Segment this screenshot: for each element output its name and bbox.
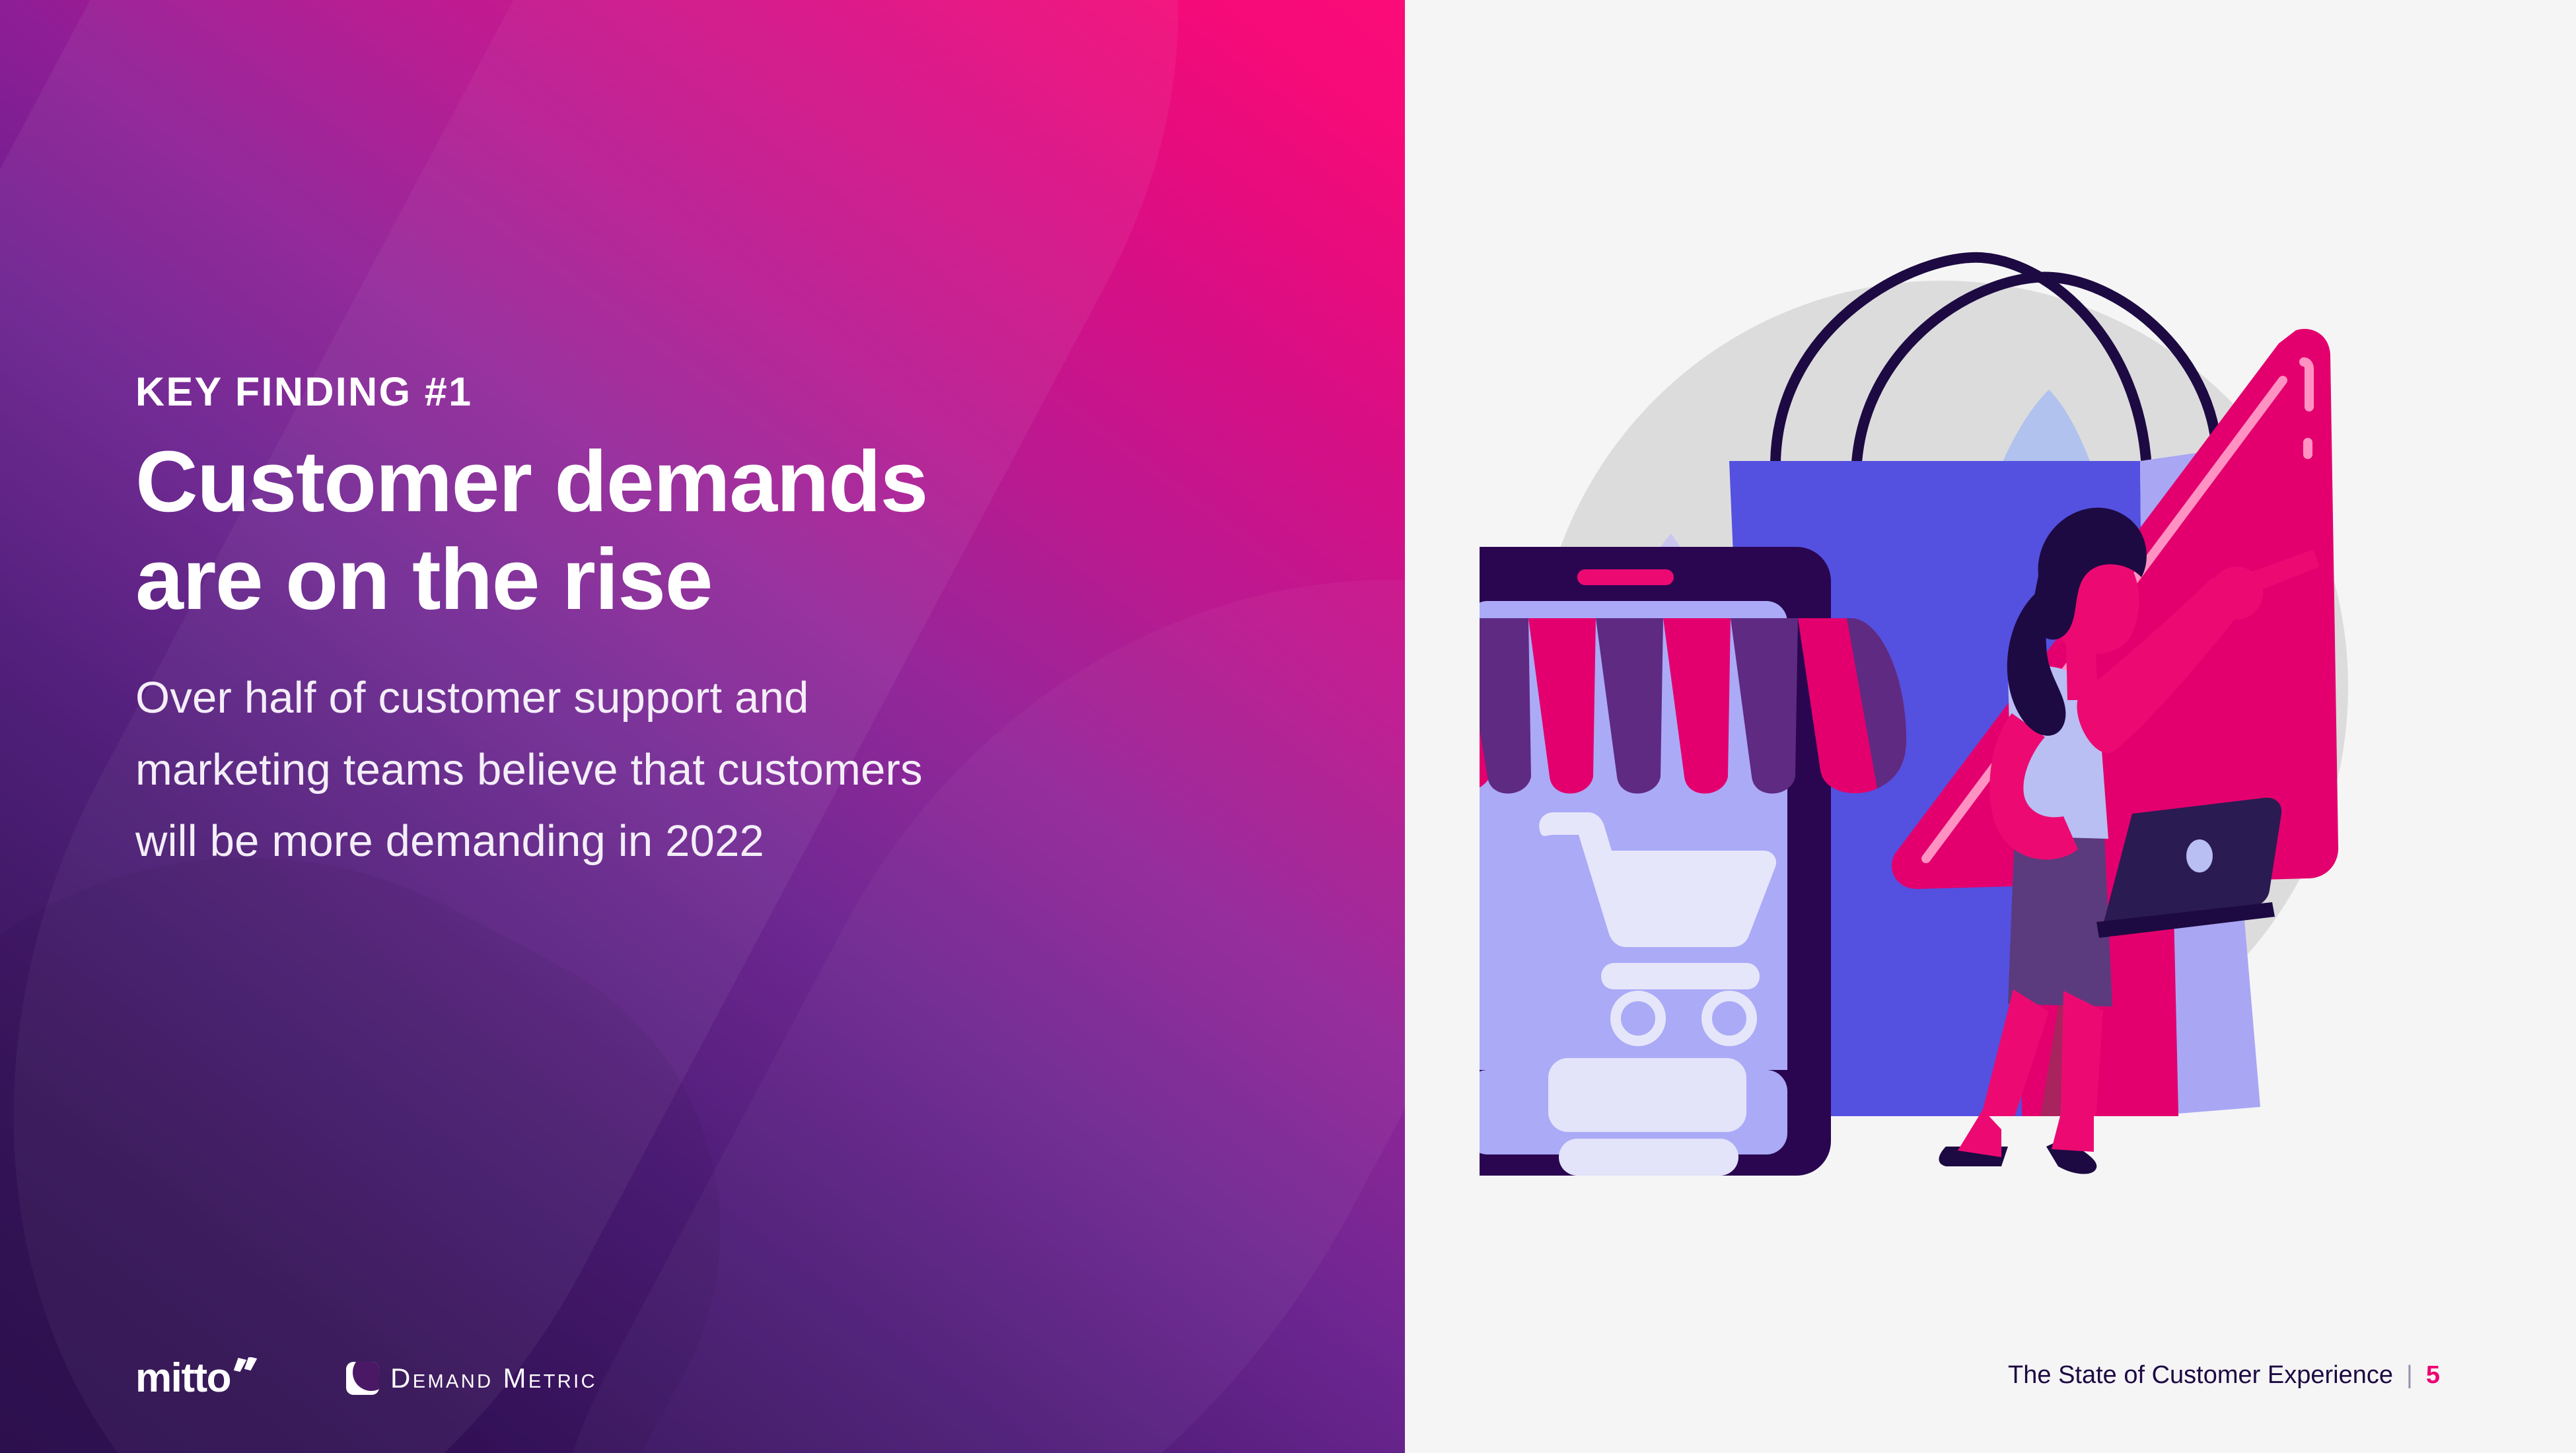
headline-line-2: are on the rise: [135, 530, 1271, 628]
subcopy-line-2: marketing teams believe that customers: [135, 734, 1271, 806]
subcopy-paragraph: Over half of customer support and market…: [135, 662, 1271, 878]
page-title: Customer demands are on the rise: [135, 433, 1271, 628]
deck-title: The State of Customer Experience: [2008, 1361, 2393, 1390]
footer-logos: mitto Demand Metric: [135, 1360, 597, 1397]
subcopy-line-3: will be more demanding in 2022: [135, 806, 1271, 878]
copy-block: KEY FINDING #1 Customer demands are on t…: [135, 370, 1271, 878]
mitto-wordmark: mitto: [135, 1360, 231, 1397]
footer-separator: |: [2406, 1361, 2413, 1390]
eyebrow-label: KEY FINDING #1: [135, 370, 1271, 414]
demand-metric-wordmark: Demand Metric: [390, 1363, 597, 1394]
mitto-logo: mitto: [135, 1360, 263, 1397]
footer-meta: The State of Customer Experience | 5: [2008, 1361, 2440, 1390]
demand-metric-logo: Demand Metric: [346, 1362, 597, 1395]
headline-line-1: Customer demands: [135, 433, 1271, 530]
demand-metric-leaf-icon: [346, 1362, 379, 1395]
mitto-chevron-icon: [234, 1357, 263, 1390]
slide-root: KEY FINDING #1 Customer demands are on t…: [0, 0, 2576, 1453]
phone-speaker: [1577, 569, 1674, 585]
online-shopping-growth-illustration: %: [1480, 251, 2424, 1189]
page-number: 5: [2426, 1361, 2440, 1390]
subcopy-line-1: Over half of customer support and: [135, 662, 1271, 734]
